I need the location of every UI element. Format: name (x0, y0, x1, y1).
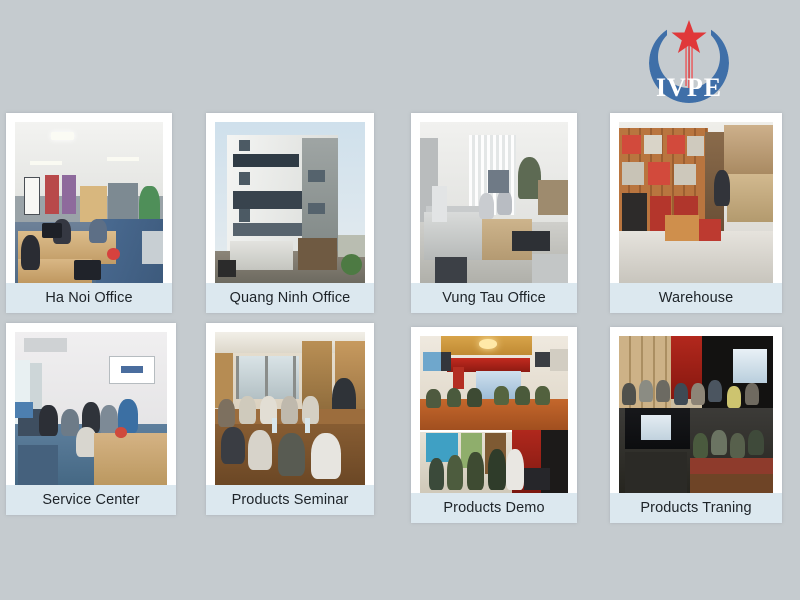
photo-warehouse (619, 122, 773, 283)
gallery-card-warehouse[interactable]: Warehouse (610, 113, 782, 313)
photo-ha-noi-office (15, 122, 163, 283)
photo-products-seminar (215, 332, 365, 485)
gallery-card-products-traning[interactable]: Products Traning (610, 327, 782, 523)
photo-service-center (15, 332, 167, 485)
gallery-card-products-demo[interactable]: Products Demo (411, 327, 577, 523)
caption-products-demo: Products Demo (411, 493, 577, 523)
photo-products-traning (619, 336, 773, 493)
caption-vung-tau-office: Vung Tau Office (411, 283, 577, 313)
caption-service-center: Service Center (6, 485, 176, 515)
gallery-card-ha-noi-office[interactable]: Ha Noi Office (6, 113, 172, 313)
caption-quang-ninh-office: Quang Ninh Office (206, 283, 374, 313)
ivpe-logo-graphic: IVPE (633, 8, 745, 108)
photo-quang-ninh-office (215, 122, 365, 283)
slide-canvas: IVPE (0, 0, 800, 600)
gallery-card-service-center[interactable]: Service Center (6, 323, 176, 515)
caption-products-seminar: Products Seminar (206, 485, 374, 515)
logo-wordmark: IVPE (656, 73, 722, 102)
photo-products-demo (420, 336, 568, 493)
gallery-card-quang-ninh-office[interactable]: Quang Ninh Office (206, 113, 374, 313)
ivpe-logo: IVPE (633, 8, 745, 108)
photo-vung-tau-office (420, 122, 568, 283)
caption-products-traning: Products Traning (610, 493, 782, 523)
caption-warehouse: Warehouse (610, 283, 782, 313)
gallery-card-products-seminar[interactable]: Products Seminar (206, 323, 374, 515)
gallery-card-vung-tau-office[interactable]: Vung Tau Office (411, 113, 577, 313)
caption-ha-noi-office: Ha Noi Office (6, 283, 172, 313)
